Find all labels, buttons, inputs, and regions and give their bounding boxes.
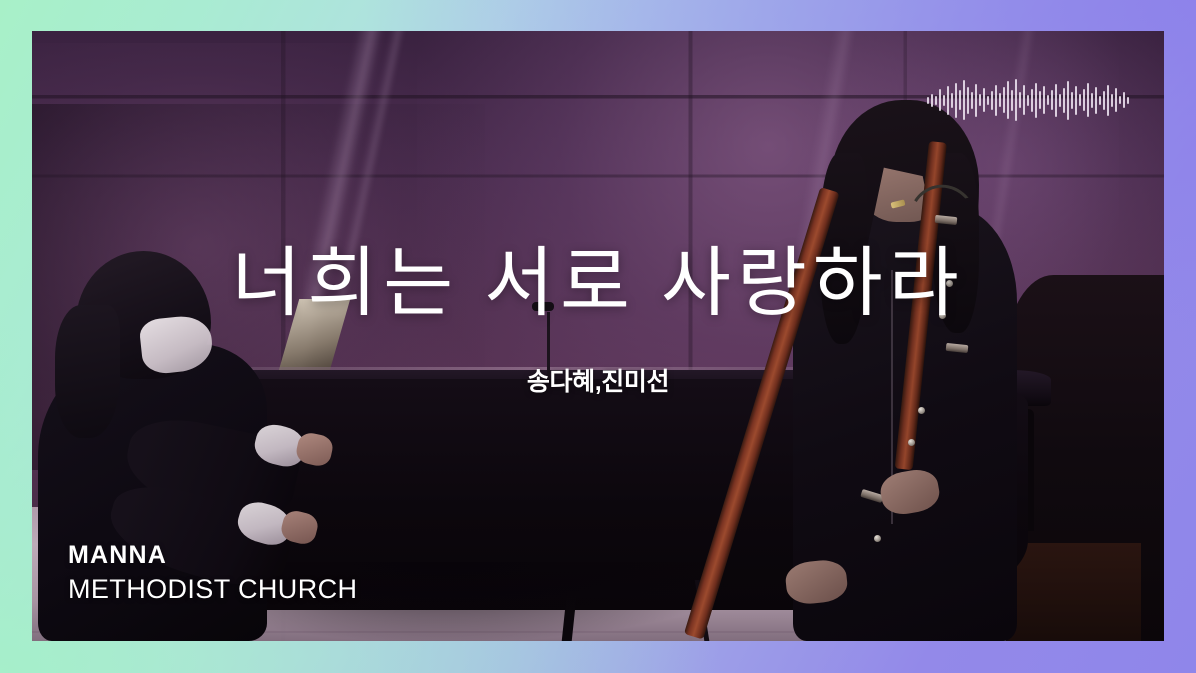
waveform-bar <box>1127 97 1129 104</box>
song-title: 너희는 서로 사랑하라 <box>32 246 1164 322</box>
waveform-bar <box>999 93 1001 107</box>
waveform-bar <box>943 95 945 106</box>
waveform-bar <box>987 96 989 105</box>
waveform-bar <box>1015 79 1017 121</box>
waveform-bar <box>995 85 997 116</box>
waveform-bar <box>1035 83 1037 118</box>
waveform-bar <box>1019 92 1021 108</box>
waveform-bar <box>1047 95 1049 105</box>
waveform-bar <box>1091 93 1093 108</box>
waveform-bar <box>1007 81 1009 119</box>
waveform-bar <box>1059 94 1061 107</box>
waveform-bar <box>927 97 929 104</box>
waveform-bar <box>1027 95 1029 106</box>
waveform-bar <box>1063 88 1065 113</box>
waveform-bar <box>1079 94 1081 106</box>
church-name: MANNA <box>68 539 357 572</box>
waveform-bar <box>1031 89 1033 112</box>
waveform-bar <box>1111 94 1113 107</box>
waveform-bar <box>1051 90 1053 110</box>
waveform-bar <box>975 84 977 117</box>
waveform-bar <box>951 93 953 108</box>
waveform-bar <box>963 80 965 120</box>
waveform-bar <box>983 88 985 112</box>
waveform-bar <box>1075 86 1077 115</box>
waveform-bar <box>979 94 981 106</box>
waveform-bar <box>1115 88 1117 112</box>
waveform-bar <box>1067 81 1069 120</box>
waveform-bar <box>1043 86 1045 114</box>
waveform-bar <box>1103 91 1105 110</box>
screenshot-canvas: 너희는 서로 사랑하라 송다혜,진미선 MANNA METHODIST CHUR… <box>0 0 1196 673</box>
waveform-bar <box>1011 90 1013 111</box>
performer-names: 송다혜,진미선 <box>32 362 1164 398</box>
waveform-bar <box>959 90 961 110</box>
waveform-bar <box>947 86 949 115</box>
waveform-bar <box>1095 87 1097 114</box>
waveform-bar <box>1003 87 1005 113</box>
waveform-bar <box>1055 84 1057 117</box>
church-watermark: MANNA METHODIST CHURCH <box>68 539 357 608</box>
audio-waveform-icon <box>927 77 1129 123</box>
waveform-bar <box>1023 85 1025 115</box>
church-denomination: METHODIST CHURCH <box>68 572 357 608</box>
waveform-bar <box>1071 92 1073 109</box>
waveform-bar <box>1119 96 1121 104</box>
video-player-frame[interactable]: 너희는 서로 사랑하라 송다혜,진미선 MANNA METHODIST CHUR… <box>32 31 1164 641</box>
waveform-bar <box>931 94 933 107</box>
waveform-bar <box>967 87 969 114</box>
waveform-bar <box>1039 91 1041 109</box>
waveform-bar <box>1099 96 1101 105</box>
waveform-bar <box>971 92 973 109</box>
waveform-bar <box>1123 92 1125 108</box>
waveform-bar <box>939 89 941 111</box>
waveform-bar <box>935 96 937 105</box>
waveform-bar <box>1083 89 1085 111</box>
video-overlay-graphics: 너희는 서로 사랑하라 송다혜,진미선 MANNA METHODIST CHUR… <box>32 31 1164 641</box>
waveform-bar <box>991 91 993 110</box>
waveform-bar <box>1107 85 1109 116</box>
waveform-bar <box>955 83 957 118</box>
waveform-bar <box>1087 83 1089 117</box>
